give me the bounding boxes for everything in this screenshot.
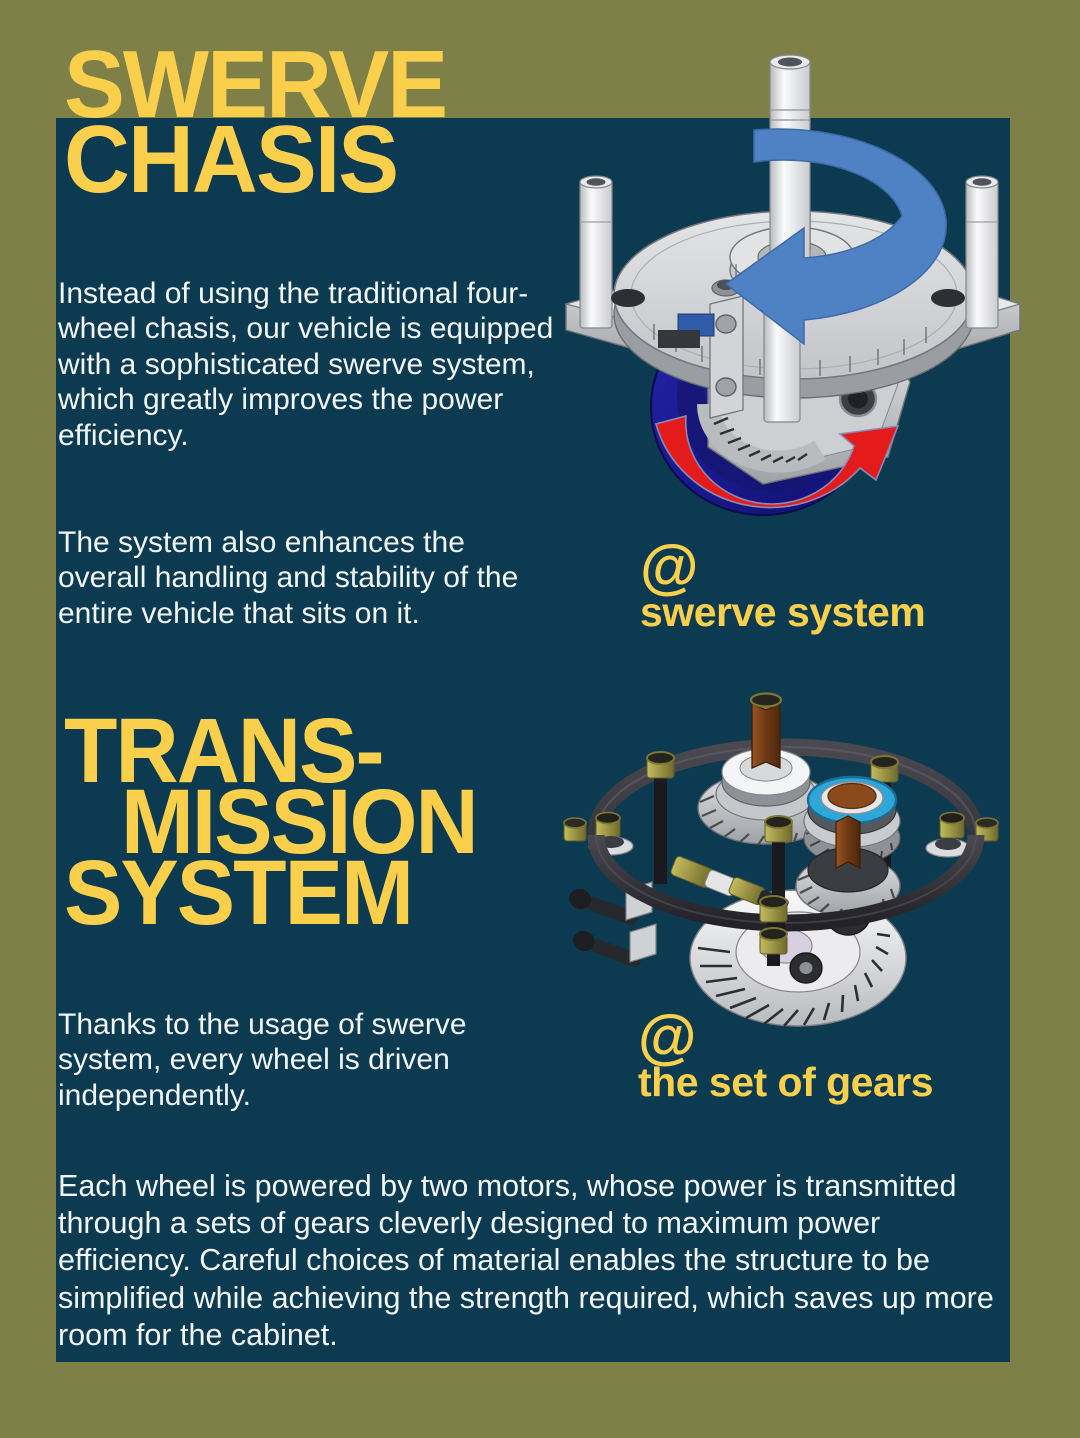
- hex-shaft-upper: [751, 694, 781, 769]
- gear-set-illustration: [548, 690, 1018, 1035]
- heading-line-2: CHASIS: [64, 123, 446, 198]
- heading-transmission-system: TRANS- MISSION SYSTEM: [64, 716, 477, 928]
- poster-root: SWERVE CHASIS TRANS- MISSION SYSTEM Inst…: [0, 0, 1080, 1438]
- caption-label: the set of gears: [638, 1062, 933, 1103]
- caption-swerve-system: @ swerve system: [640, 545, 925, 633]
- caption-set-of-gears: @ the set of gears: [638, 1015, 933, 1103]
- paragraph-swerve-intro: Instead of using the traditional four-wh…: [58, 276, 558, 453]
- paragraph-swerve-handling: The system also enhances the overall han…: [58, 525, 558, 631]
- at-symbol-icon: @: [640, 545, 925, 588]
- heading-swerve-chasis: SWERVE CHASIS: [64, 48, 446, 198]
- at-symbol-icon: @: [638, 1015, 933, 1058]
- swerve-module-illustration: [558, 52, 1028, 532]
- caption-label: swerve system: [640, 592, 925, 633]
- paragraph-transmission-detail: Each wheel is powered by two motors, who…: [58, 1168, 998, 1354]
- paragraph-transmission-intro: Thanks to the usage of swerve system, ev…: [58, 1007, 568, 1113]
